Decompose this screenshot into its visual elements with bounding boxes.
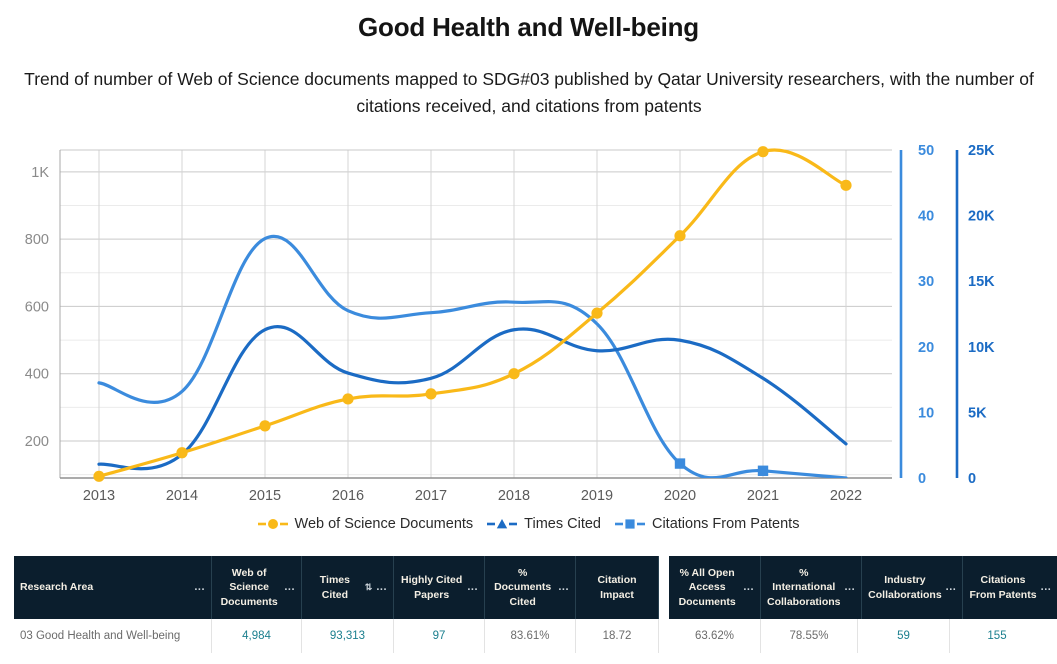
cell-highly-cited-papers[interactable]: 97 [394, 619, 485, 653]
cell-pct-open-access: 63.62% [669, 619, 761, 653]
circle-marker-icon [258, 517, 288, 531]
cell-pct-international: 78.55% [761, 619, 858, 653]
table-row[interactable]: 03 Good Health and Well-being4,98493,313… [14, 619, 1044, 653]
x-tick-2017: 2017 [415, 488, 447, 504]
legend-label: Times Cited [522, 517, 601, 532]
x-tick-2013: 2013 [83, 488, 115, 504]
x-axis: 2013201420152016201720182019202020212022 [83, 488, 862, 504]
column-header-pct-documents-cited[interactable]: % Documents Cited... [485, 556, 576, 619]
column-header-label: Citations From Patents [969, 573, 1036, 601]
y-tick-times-cited: 5K [968, 405, 987, 421]
triangle-marker-icon [487, 517, 517, 531]
cell-times-cited[interactable]: 93,313 [302, 619, 394, 653]
dashboard-page: Good Health and Well-being Trend of numb… [0, 0, 1057, 664]
column-menu-icon[interactable]: ... [280, 580, 295, 595]
y-tick-patents: 40 [918, 209, 934, 225]
chart-svg: 2004006008001K 01020304050 05K10K15K20K2… [0, 140, 1057, 540]
column-group-divider [659, 619, 669, 653]
page-title: Good Health and Well-being [0, 12, 1057, 43]
column-header-wos-documents[interactable]: Web of Science Documents... [212, 556, 302, 619]
y-tick-left: 200 [25, 434, 49, 450]
column-header-citations-from-patents[interactable]: Citations From Patents... [963, 556, 1057, 619]
y-tick-left: 400 [25, 367, 49, 383]
column-header-label: Times Cited [308, 573, 362, 601]
y-tick-left: 800 [25, 232, 49, 248]
legend-item-citations-from-patents[interactable]: Citations From Patents [615, 517, 799, 532]
cell-wos-documents[interactable]: 4,984 [212, 619, 302, 653]
column-menu-icon[interactable]: ... [372, 580, 387, 595]
column-header-label: % International Collaborations [767, 566, 841, 609]
column-header-label: Research Area [20, 580, 190, 594]
column-group-divider [659, 556, 669, 619]
x-tick-2014: 2014 [166, 488, 198, 504]
square-marker-icon [615, 517, 645, 531]
column-header-citation-impact[interactable]: Citation Impact [576, 556, 659, 619]
y-axis-times-cited: 05K10K15K20K25K [957, 143, 995, 487]
table-body: 03 Good Health and Well-being4,98493,313… [14, 619, 1044, 653]
column-header-industry-collaborations[interactable]: Industry Collaborations... [862, 556, 963, 619]
y-tick-patents: 20 [918, 340, 934, 356]
cell-pct-documents-cited: 83.61% [485, 619, 576, 653]
cell-industry-collaborations[interactable]: 59 [858, 619, 950, 653]
y-tick-times-cited: 15K [968, 274, 995, 290]
column-menu-icon[interactable]: ... [190, 580, 205, 595]
column-header-research-area[interactable]: Research Area... [14, 556, 212, 619]
y-tick-left: 600 [25, 299, 49, 315]
page-subtitle: Trend of number of Web of Science docume… [14, 66, 1044, 120]
column-header-pct-international[interactable]: % International Collaborations... [761, 556, 862, 619]
y-axis-left-ticks: 2004006008001K [25, 165, 50, 450]
column-header-label: % All Open Access Documents [675, 566, 739, 609]
column-menu-icon[interactable]: ... [739, 580, 754, 595]
column-header-times-cited[interactable]: Times Cited⇅... [302, 556, 394, 619]
y-tick-patents: 30 [918, 274, 934, 290]
y-tick-times-cited: 20K [968, 209, 995, 225]
y-tick-times-cited: 0 [968, 471, 976, 487]
y-tick-times-cited: 10K [968, 340, 995, 356]
x-tick-2019: 2019 [581, 488, 613, 504]
column-menu-icon[interactable]: ... [463, 580, 478, 595]
table-header-row: Research Area...Web of Science Documents… [14, 556, 1044, 619]
metrics-table: Research Area...Web of Science Documents… [14, 556, 1044, 653]
x-tick-2016: 2016 [332, 488, 364, 504]
chart-gridlines [60, 150, 892, 478]
x-tick-2020: 2020 [664, 488, 696, 504]
legend-item-times-cited[interactable]: Times Cited [487, 517, 601, 532]
sort-arrows-icon[interactable]: ⇅ [362, 583, 373, 592]
column-menu-icon[interactable]: ... [554, 580, 569, 595]
column-header-label: Citation Impact [582, 573, 652, 601]
column-header-label: % Documents Cited [491, 566, 554, 609]
legend-label: Citations From Patents [650, 517, 799, 532]
legend-item-web-of-science-documents[interactable]: Web of Science Documents [258, 517, 474, 532]
y-tick-patents: 0 [918, 471, 926, 487]
cell-citations-from-patents[interactable]: 155 [950, 619, 1044, 653]
x-tick-2018: 2018 [498, 488, 530, 504]
x-tick-2015: 2015 [249, 488, 281, 504]
cell-citation-impact: 18.72 [576, 619, 659, 653]
y-tick-patents: 10 [918, 405, 934, 421]
column-header-label: Industry Collaborations [868, 573, 942, 601]
column-header-label: Highly Cited Papers [400, 573, 463, 601]
column-menu-icon[interactable]: ... [1037, 580, 1052, 595]
chart-legend: Web of Science DocumentsTimes CitedCitat… [0, 517, 1057, 532]
y-tick-left: 1K [31, 165, 49, 181]
y-tick-times-cited: 25K [968, 143, 995, 159]
trend-line-chart[interactable]: 2004006008001K 01020304050 05K10K15K20K2… [0, 140, 1057, 540]
column-header-label: Web of Science Documents [218, 566, 280, 609]
column-menu-icon[interactable]: ... [942, 580, 957, 595]
y-axis-patents: 01020304050 [901, 143, 934, 487]
legend-label: Web of Science Documents [293, 517, 474, 532]
x-tick-2021: 2021 [747, 488, 779, 504]
x-tick-2022: 2022 [830, 488, 862, 504]
column-header-pct-open-access[interactable]: % All Open Access Documents... [669, 556, 761, 619]
column-menu-icon[interactable]: ... [841, 580, 856, 595]
column-header-highly-cited-papers[interactable]: Highly Cited Papers... [394, 556, 485, 619]
y-tick-patents: 50 [918, 143, 934, 159]
cell-research-area: 03 Good Health and Well-being [14, 619, 212, 653]
